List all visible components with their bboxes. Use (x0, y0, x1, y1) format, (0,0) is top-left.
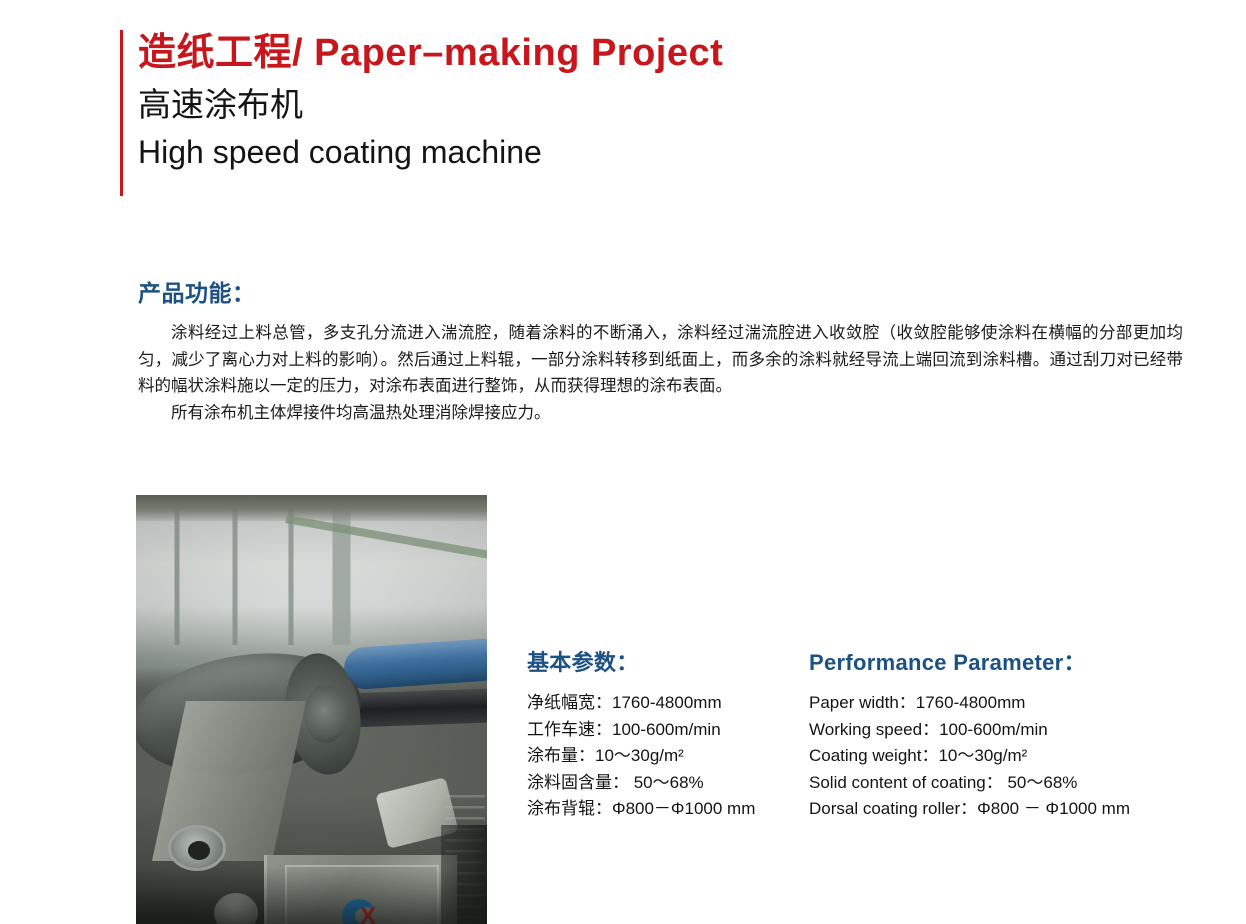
param-row-en-coating-weight: Coating weight：10～30g/m² (809, 743, 1209, 770)
param-row-en-dorsal-roller: Dorsal coating roller：Φ800 － Φ1000 mm (809, 796, 1209, 823)
roller-hub (304, 685, 348, 743)
subtitle-english: High speed coating machine (138, 130, 723, 174)
param-row-zh-working-speed: 工作车速：100-600m/min (527, 717, 809, 744)
subtitle-chinese: 高速涂布机 (138, 82, 723, 128)
param-row-en-working-speed: Working speed：100-600m/min (809, 717, 1209, 744)
param-row-zh-dorsal-roller: 涂布背辊：Φ800－Φ1000 mm (527, 796, 809, 823)
machine-photo: X 创新机械 CHUANG XIN JI XIE (136, 495, 487, 924)
page-title: 造纸工程/ Paper–making Project (138, 28, 723, 78)
param-row-zh-paper-width: 净纸幅宽：1760-4800mm (527, 690, 809, 717)
header-accent-rule (120, 30, 123, 196)
performance-parameter-title: Performance Parameter： (809, 648, 1209, 678)
param-row-zh-solid-content: 涂料固含量： 50～68% (527, 770, 809, 797)
header-text-block: 造纸工程/ Paper–making Project 高速涂布机 High sp… (138, 28, 723, 174)
page-header: 造纸工程/ Paper–making Project 高速涂布机 High sp… (120, 28, 1120, 198)
parameters-column-english: Performance Parameter： Paper width：1760-… (809, 648, 1209, 839)
parameters-column-chinese: 基本参数： 净纸幅宽：1760-4800mm 工作车速：100-600m/min… (527, 648, 809, 839)
basic-parameters-title: 基本参数： (527, 648, 809, 678)
parameters-section: 基本参数： 净纸幅宽：1760-4800mm 工作车速：100-600m/min… (527, 648, 1217, 839)
param-row-zh-coating-weight: 涂布量：10～30g/m² (527, 743, 809, 770)
pipe-flange (168, 825, 226, 871)
product-function-heading: 产品功能： (138, 278, 1183, 308)
param-row-en-solid-content: Solid content of coating： 50～68% (809, 770, 1209, 797)
function-paragraph-1: 涂料经过上料总管，多支孔分流进入湍流腔，随着涂料的不断涌入，涂料经过湍流腔进入收… (138, 320, 1183, 400)
basic-parameters-list: 净纸幅宽：1760-4800mm 工作车速：100-600m/min 涂布量：1… (527, 690, 809, 823)
product-function-body: 涂料经过上料总管，多支孔分流进入湍流腔，随着涂料的不断涌入，涂料经过湍流腔进入收… (138, 320, 1183, 426)
performance-parameters-list: Paper width：1760-4800mm Working speed：10… (809, 690, 1209, 823)
ceiling-beam (136, 495, 487, 521)
product-function-section: 产品功能： 涂料经过上料总管，多支孔分流进入湍流腔，随着涂料的不断涌入，涂料经过… (138, 278, 1183, 426)
floor-shadow (136, 866, 487, 924)
param-row-en-paper-width: Paper width：1760-4800mm (809, 690, 1209, 717)
function-paragraph-2: 所有涂布机主体焊接件均高温热处理消除焊接应力。 (138, 400, 1183, 427)
